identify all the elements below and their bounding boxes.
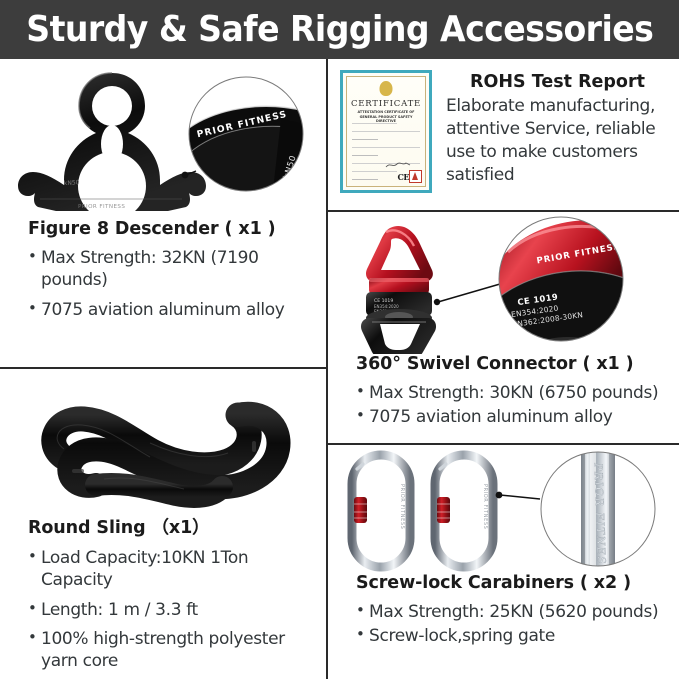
svg-text:PRIOR FITNESS: PRIOR FITNESS	[399, 484, 405, 529]
figure8-image: kN50 PRIOR FITNESS	[0, 59, 327, 219]
swivel-text-block: 360° Swivel Connector ( x1 ) Max Strengt…	[328, 354, 679, 429]
certificate-subheading: ATTESTATION CERTIFICATE OF GENERAL PRODU…	[351, 110, 421, 124]
figure8-title: Figure 8 Descender ( x1 )	[28, 219, 313, 239]
list-item: Max Strength: 30KN (6750 pounds)	[356, 383, 665, 405]
svg-text:PRIOR FITNESS: PRIOR FITNESS	[78, 204, 125, 210]
certificate-ce-mark: CE	[398, 172, 409, 182]
list-item: Max Strength: 25KN (5620 pounds)	[356, 602, 665, 624]
panel-rohs-report: CERTIFICATE ATTESTATION CERTIFICATE OF G…	[328, 59, 679, 212]
carabiners-text-block: Screw-lock Carabiners ( x2 ) Max Strengt…	[328, 573, 679, 648]
carabiners-title: Screw-lock Carabiners ( x2 )	[356, 573, 665, 593]
svg-text:PRIOR FITNESS: PRIOR FITNESS	[482, 484, 488, 529]
list-item: 7075 aviation aluminum alloy	[356, 407, 665, 429]
rohs-title: ROHS Test Report	[446, 72, 669, 92]
sling-title: Round Sling （x1）	[28, 514, 313, 539]
figure8-text-block: Figure 8 Descender ( x1 ) Max Strength: …	[0, 219, 327, 321]
panel-swivel-connector: CE 1019 EN354:2020 EN362:2008-30KN	[328, 212, 679, 445]
svg-text:kN50: kN50	[64, 179, 80, 187]
swivel-bullets: Max Strength: 30KN (6750 pounds) 7075 av…	[356, 383, 665, 429]
list-item: Load Capacity:10KN 1Ton Capacity	[28, 548, 313, 592]
infographic-page: Sturdy & Safe Rigging Accessories	[0, 0, 679, 679]
sling-image	[0, 369, 327, 514]
carabiners-image: PRIOR FITNESS PRIOR FITNESS	[328, 445, 679, 573]
list-item: Length: 1 m / 3.3 ft	[28, 600, 313, 622]
list-item: Max Strength: 32KN (7190 pounds)	[28, 248, 313, 292]
swivel-title: 360° Swivel Connector ( x1 )	[356, 354, 665, 374]
figure8-bullets: Max Strength: 32KN (7190 pounds) 7075 av…	[28, 248, 313, 321]
panel-screwlock-carabiners: PRIOR FITNESS PRIOR FITNESS	[328, 445, 679, 679]
carabiners-bullets: Max Strength: 25KN (5620 pounds) Screw-l…	[356, 602, 665, 648]
certificate-signature-icon	[385, 160, 411, 169]
carabiners-illustration: PRIOR FITNESS PRIOR FITNESS	[328, 445, 679, 573]
list-item: 7075 aviation aluminum alloy	[28, 300, 313, 322]
certificate-heading: CERTIFICATE	[347, 99, 425, 109]
panel-figure8-descender: kN50 PRIOR FITNESS	[0, 59, 327, 369]
page-title: Sturdy & Safe Rigging Accessories	[26, 12, 653, 48]
certificate-image: CERTIFICATE ATTESTATION CERTIFICATE OF G…	[340, 70, 432, 193]
sling-text-block: Round Sling （x1） Load Capacity:10KN 1Ton…	[0, 514, 327, 673]
swivel-connector-illustration: CE 1019 EN354:2020 EN362:2008-30KN	[328, 212, 679, 354]
list-item: Screw-lock,spring gate	[356, 626, 665, 648]
rohs-text-block: ROHS Test Report Elaborate manufacturing…	[432, 70, 669, 187]
round-sling-illustration	[0, 369, 327, 514]
list-item: 100% high-strength polyester yarn core	[28, 629, 313, 673]
sling-bullets: Load Capacity:10KN 1Ton Capacity Length:…	[28, 548, 313, 673]
header-bar: Sturdy & Safe Rigging Accessories	[0, 0, 679, 59]
swivel-image: CE 1019 EN354:2020 EN362:2008-30KN	[328, 212, 679, 354]
panel-round-sling: Round Sling （x1） Load Capacity:10KN 1Ton…	[0, 369, 327, 679]
figure8-descender-illustration: kN50 PRIOR FITNESS	[0, 59, 327, 219]
certificate-seal-icon	[380, 81, 393, 96]
rohs-body: Elaborate manufacturing, attentive Servi…	[446, 95, 669, 187]
certificate-red-logo-icon	[409, 170, 422, 183]
